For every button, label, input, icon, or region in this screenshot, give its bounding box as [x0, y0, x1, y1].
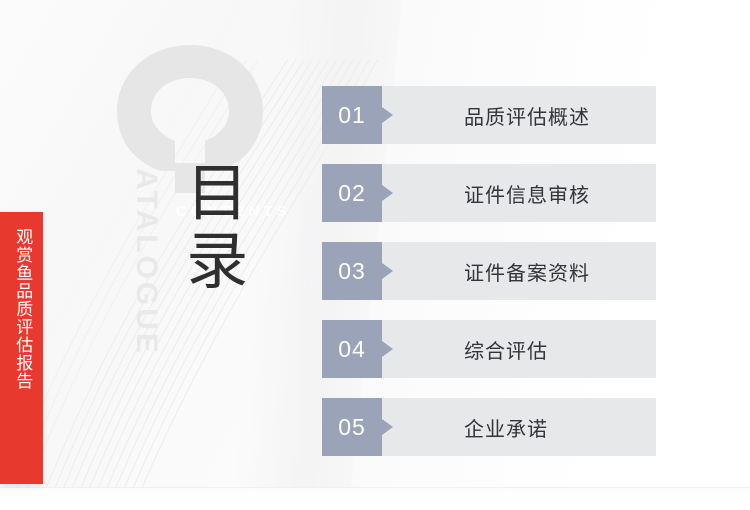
agenda-item-04[interactable]: 04 综合评估: [322, 320, 656, 378]
agenda-number-02: 02: [322, 164, 382, 222]
agenda-number-01: 01: [322, 86, 382, 144]
slide-canvas: ATALOGUE CONTENTS 目录 观赏鱼品质评估报告 01 品质评估概述…: [0, 0, 750, 510]
agenda-item-05[interactable]: 05 企业承诺: [322, 398, 656, 456]
agenda-label-02: 证件信息审核: [382, 164, 656, 222]
background-bottom-strip: [0, 487, 750, 510]
agenda-item-03[interactable]: 03 证件备案资料: [322, 242, 656, 300]
chevron-right-icon: [382, 419, 393, 435]
side-banner: 观赏鱼品质评估报告: [0, 212, 43, 484]
chevron-right-icon: [382, 185, 393, 201]
agenda-list: 01 品质评估概述 02 证件信息审核 03 证件备案资料 04 综合评估 05…: [322, 86, 656, 456]
chevron-right-icon: [382, 107, 393, 123]
chevron-right-icon: [382, 341, 393, 357]
agenda-item-01[interactable]: 01 品质评估概述: [322, 86, 656, 144]
agenda-label-01: 品质评估概述: [382, 86, 656, 144]
agenda-number-04: 04: [322, 320, 382, 378]
agenda-label-05: 企业承诺: [382, 398, 656, 456]
agenda-item-02[interactable]: 02 证件信息审核: [322, 164, 656, 222]
side-banner-label: 观赏鱼品质评估报告: [12, 228, 32, 390]
page-title: 目录: [176, 160, 247, 296]
heading-en-vertical: ATALOGUE: [131, 168, 161, 356]
agenda-label-03: 证件备案资料: [382, 242, 656, 300]
agenda-label-04: 综合评估: [382, 320, 656, 378]
agenda-number-03: 03: [322, 242, 382, 300]
agenda-number-05: 05: [322, 398, 382, 456]
chevron-right-icon: [382, 263, 393, 279]
